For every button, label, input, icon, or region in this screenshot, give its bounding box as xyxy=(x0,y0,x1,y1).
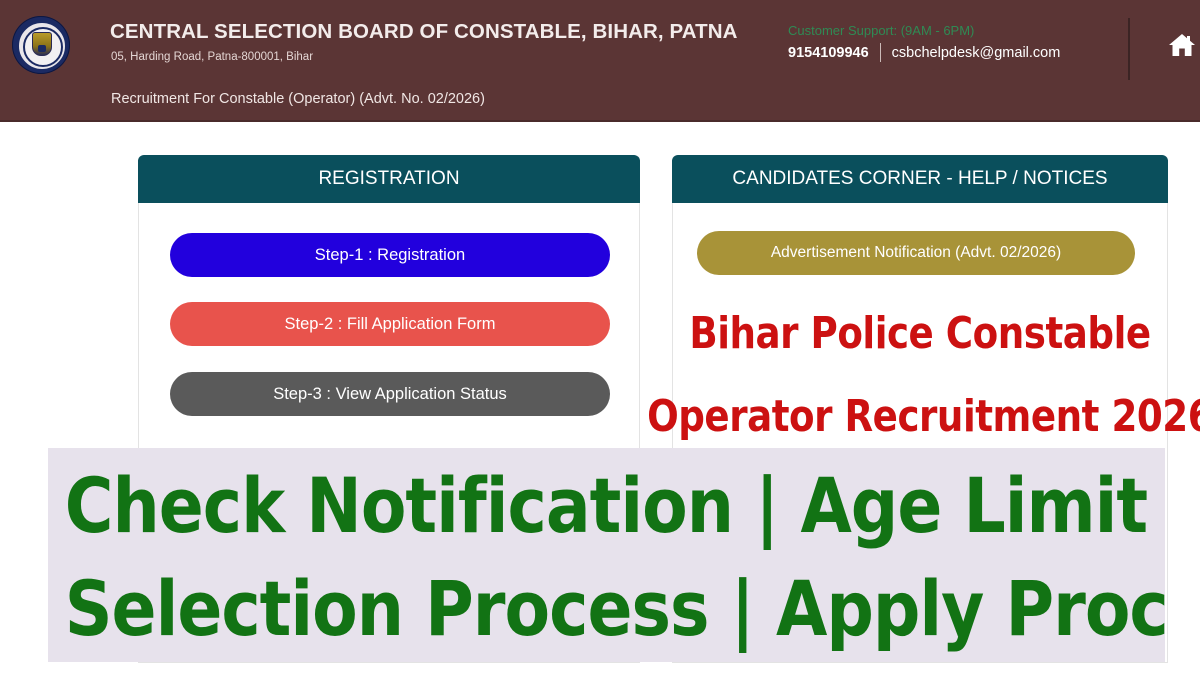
site-header: CENTRAL SELECTION BOARD OF CONSTABLE, BI… xyxy=(0,0,1200,122)
contact-separator xyxy=(880,43,881,62)
customer-support-contact: 9154109946 csbchelpdesk@gmail.com xyxy=(788,43,1118,62)
promo-headline-line-1: Bihar Police Constable xyxy=(676,292,1165,375)
home-icon[interactable] xyxy=(1168,32,1196,58)
header-vertical-divider xyxy=(1128,18,1130,80)
registration-panel-heading: REGISTRATION xyxy=(138,155,640,203)
organization-address: 05, Harding Road, Patna-800001, Bihar xyxy=(111,51,313,63)
step-1-registration-button[interactable]: Step-1 : Registration xyxy=(170,233,610,277)
candidates-corner-panel-heading: CANDIDATES CORNER - HELP / NOTICES xyxy=(672,155,1168,203)
emblem-crest-shield xyxy=(32,32,52,56)
step-2-fill-application-form-button[interactable]: Step-2 : Fill Application Form xyxy=(170,302,610,346)
step-3-view-application-status-button[interactable]: Step-3 : View Application Status xyxy=(170,372,610,416)
support-phone-number[interactable]: 9154109946 xyxy=(788,45,869,61)
promo-banner-overlay: Check Notification | Age Limit | Selecti… xyxy=(48,448,1165,662)
recruitment-subtitle: Recruitment For Constable (Operator) (Ad… xyxy=(111,91,485,107)
csbc-emblem-icon xyxy=(12,16,70,74)
customer-support-block: Customer Support: (9AM - 6PM) 9154109946… xyxy=(788,22,1118,62)
customer-support-label: Customer Support: (9AM - 6PM) xyxy=(788,22,1118,39)
banner-line-1: Check Notification | Age Limit | xyxy=(65,454,1148,557)
organization-title: CENTRAL SELECTION BOARD OF CONSTABLE, BI… xyxy=(110,20,738,44)
advertisement-notification-button[interactable]: Advertisement Notification (Advt. 02/202… xyxy=(697,231,1135,275)
banner-line-2: Selection Process | Apply Process xyxy=(65,557,1148,660)
promo-headline-line-2: Operator Recruitment 2026 xyxy=(647,375,1183,458)
support-email-address[interactable]: csbchelpdesk@gmail.com xyxy=(892,45,1061,61)
